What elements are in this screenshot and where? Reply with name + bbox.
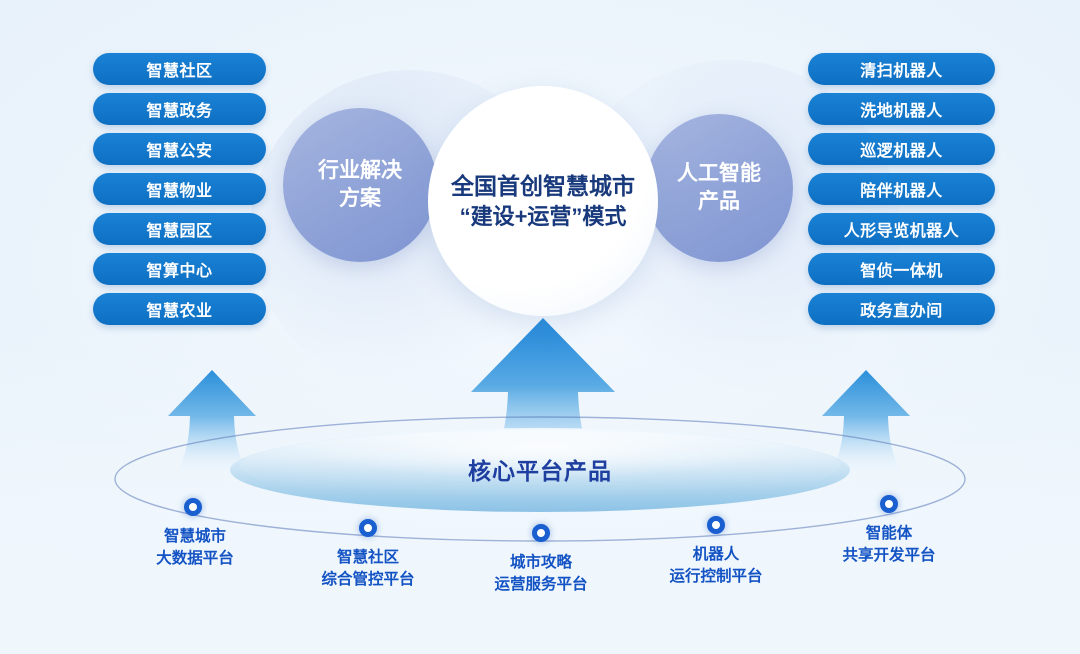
circle-core-model[interactable]: 全国首创智慧城市 “建设+运营”模式: [428, 86, 658, 316]
pill-right-4-label: 陪伴机器人: [860, 177, 943, 201]
pill-left-7-label: 智慧农业: [146, 297, 212, 321]
pill-right-5-label: 人形导览机器人: [844, 217, 960, 241]
circle-industry-line2: 方案: [318, 185, 402, 213]
core-platform-title: 核心平台产品: [0, 452, 1080, 486]
pill-left-6[interactable]: 智算中心: [93, 253, 266, 285]
pill-left-1-label: 智慧社区: [146, 57, 212, 81]
pill-right-7-label: 政务直办间: [860, 297, 943, 321]
pill-right-1-label: 清扫机器人: [860, 57, 943, 81]
pill-left-2[interactable]: 智慧政务: [93, 93, 266, 125]
pill-right-7[interactable]: 政务直办间: [808, 293, 995, 325]
pill-left-5-label: 智慧园区: [146, 217, 212, 241]
platform-node-dot-2[interactable]: [359, 519, 377, 537]
platform-node-5-line1: 智能体: [819, 523, 959, 545]
platform-node-label-3: 城市攻略 运营服务平台: [471, 552, 611, 597]
platform-node-2-line1: 智慧社区: [298, 547, 438, 569]
platform-node-dot-1[interactable]: [184, 498, 202, 516]
circle-ai-line1: 人工智能: [677, 160, 761, 188]
pill-right-4[interactable]: 陪伴机器人: [808, 173, 995, 205]
pill-left-6-label: 智算中心: [146, 257, 212, 281]
platform-node-label-2: 智慧社区 综合管控平台: [298, 547, 438, 592]
platform-node-1-line1: 智慧城市: [125, 526, 265, 548]
platform-node-4-line1: 机器人: [646, 544, 786, 566]
platform-node-dot-4[interactable]: [707, 516, 725, 534]
pill-right-3[interactable]: 巡逻机器人: [808, 133, 995, 165]
pill-left-7[interactable]: 智慧农业: [93, 293, 266, 325]
pill-left-3-label: 智慧公安: [146, 137, 212, 161]
pill-right-6[interactable]: 智侦一体机: [808, 253, 995, 285]
circle-core-line2: “建设+运营”模式: [451, 202, 635, 231]
circle-core-line1: 全国首创智慧城市: [451, 171, 635, 201]
platform-node-label-4: 机器人 运行控制平台: [646, 544, 786, 589]
platform-node-5-line2: 共享开发平台: [819, 545, 959, 567]
platform-node-label-5: 智能体 共享开发平台: [819, 523, 959, 568]
infographic-canvas: 智慧社区 智慧政务 智慧公安 智慧物业 智慧园区 智算中心 智慧农业 清扫机器人…: [0, 0, 1080, 654]
pill-right-3-label: 巡逻机器人: [860, 137, 943, 161]
pill-right-2[interactable]: 洗地机器人: [808, 93, 995, 125]
pill-right-6-label: 智侦一体机: [860, 257, 943, 281]
platform-node-4-line2: 运行控制平台: [646, 566, 786, 588]
circle-ai-products[interactable]: 人工智能 产品: [645, 114, 793, 262]
pill-left-5[interactable]: 智慧园区: [93, 213, 266, 245]
circle-ai-line2: 产品: [677, 188, 761, 216]
pill-left-3[interactable]: 智慧公安: [93, 133, 266, 165]
pill-right-5[interactable]: 人形导览机器人: [808, 213, 995, 245]
pill-left-1[interactable]: 智慧社区: [93, 53, 266, 85]
platform-node-3-line1: 城市攻略: [471, 552, 611, 574]
pill-right-2-label: 洗地机器人: [860, 97, 943, 121]
pill-left-4-label: 智慧物业: [146, 177, 212, 201]
circle-industry-line1: 行业解决: [318, 157, 402, 185]
platform-node-label-1: 智慧城市 大数据平台: [125, 526, 265, 571]
platform-node-dot-3[interactable]: [532, 524, 550, 542]
pill-right-1[interactable]: 清扫机器人: [808, 53, 995, 85]
platform-node-2-line2: 综合管控平台: [298, 569, 438, 591]
platform-node-1-line2: 大数据平台: [125, 548, 265, 570]
circle-industry-solutions[interactable]: 行业解决 方案: [283, 108, 437, 262]
pill-left-2-label: 智慧政务: [146, 97, 212, 121]
platform-node-dot-5[interactable]: [880, 495, 898, 513]
pill-left-4[interactable]: 智慧物业: [93, 173, 266, 205]
background-floor-gradient: [0, 330, 1080, 654]
platform-node-3-line2: 运营服务平台: [471, 574, 611, 596]
